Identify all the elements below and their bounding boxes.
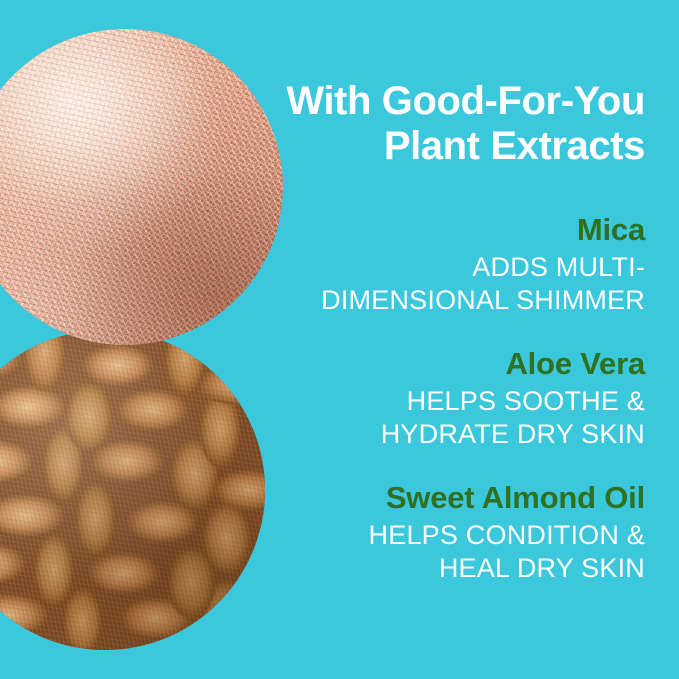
ingredient-description-aloe-vera: HELPS SOOTHE & HYDRATE DRY SKIN <box>245 385 645 451</box>
glitter-sheen-overlay <box>0 29 283 345</box>
almond-shading-overlay <box>0 330 265 650</box>
ingredient-aloe-vera: Aloe Vera HELPS SOOTHE & HYDRATE DRY SKI… <box>245 345 645 451</box>
product-infographic: With Good-For-You Plant Extracts Mica AD… <box>0 0 679 679</box>
ingredient-description-sweet-almond-oil: HELPS CONDITION & HEAL DRY SKIN <box>245 519 645 585</box>
ingredient-description-mica: ADDS MULTI- DIMENSIONAL SHIMMER <box>245 251 645 317</box>
almonds-photo-image <box>0 330 265 650</box>
mica-glitter-swatch-image <box>0 29 283 345</box>
ingredient-mica: Mica ADDS MULTI- DIMENSIONAL SHIMMER <box>245 211 645 317</box>
headline: With Good-For-You Plant Extracts <box>245 0 645 169</box>
ingredient-name-mica: Mica <box>245 211 645 249</box>
ingredient-name-sweet-almond-oil: Sweet Almond Oil <box>245 479 645 517</box>
ingredient-sweet-almond-oil: Sweet Almond Oil HELPS CONDITION & HEAL … <box>245 479 645 585</box>
ingredient-name-aloe-vera: Aloe Vera <box>245 345 645 383</box>
text-column: With Good-For-You Plant Extracts Mica AD… <box>245 0 645 679</box>
